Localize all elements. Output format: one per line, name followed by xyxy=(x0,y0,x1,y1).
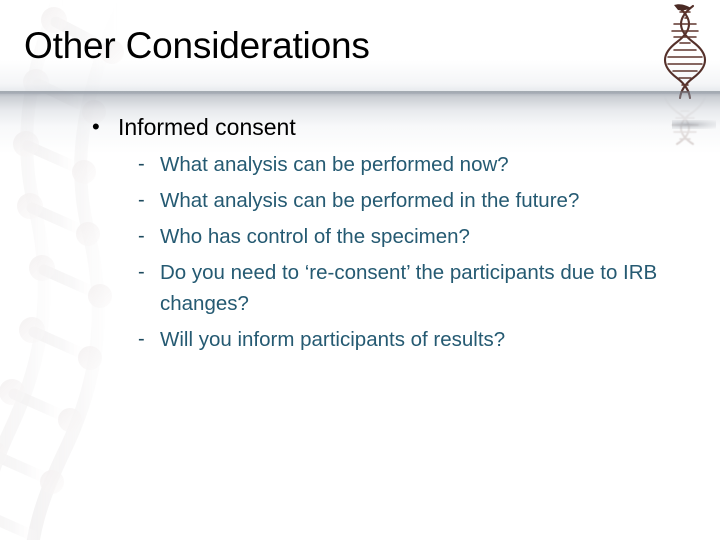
sub-bullet-label: Do you need to ‘re-consent’ the particip… xyxy=(160,257,690,319)
slide-title: Other Considerations xyxy=(24,24,644,68)
sub-bullet-label: What analysis can be performed now? xyxy=(160,149,690,180)
sub-bullet-label: Who has control of the specimen? xyxy=(160,221,690,252)
dash-marker-icon: - xyxy=(138,257,160,288)
bullet-dot-icon: • xyxy=(92,112,118,142)
bullet-level1-label: Informed consent xyxy=(118,112,702,142)
dash-marker-icon: - xyxy=(138,221,160,252)
sub-bullet-inform-results: - Will you inform participants of result… xyxy=(138,324,702,355)
sub-bullet-analysis-now: - What analysis can be performed now? xyxy=(138,149,702,180)
floor-horizon-line xyxy=(0,91,720,92)
bullet-level1-informed-consent: • Informed consent xyxy=(92,112,702,142)
sub-bullet-label: Will you inform participants of results? xyxy=(160,324,690,355)
sub-bullet-label: What analysis can be performed in the fu… xyxy=(160,185,690,216)
slide-body: • Informed consent - What analysis can b… xyxy=(92,112,702,360)
dash-marker-icon: - xyxy=(138,185,160,216)
dash-marker-icon: - xyxy=(138,149,160,180)
dna-double-helix-icon xyxy=(660,4,710,100)
sub-bullet-re-consent: - Do you need to ‘re-consent’ the partic… xyxy=(138,257,702,319)
dash-marker-icon: - xyxy=(138,324,160,355)
sub-bullet-analysis-future: - What analysis can be performed in the … xyxy=(138,185,702,216)
sub-bullet-specimen-control: - Who has control of the specimen? xyxy=(138,221,702,252)
presentation-slide: Other Considerations • Informed consent … xyxy=(0,0,720,540)
sub-bullet-list: - What analysis can be performed now? - … xyxy=(92,149,702,355)
